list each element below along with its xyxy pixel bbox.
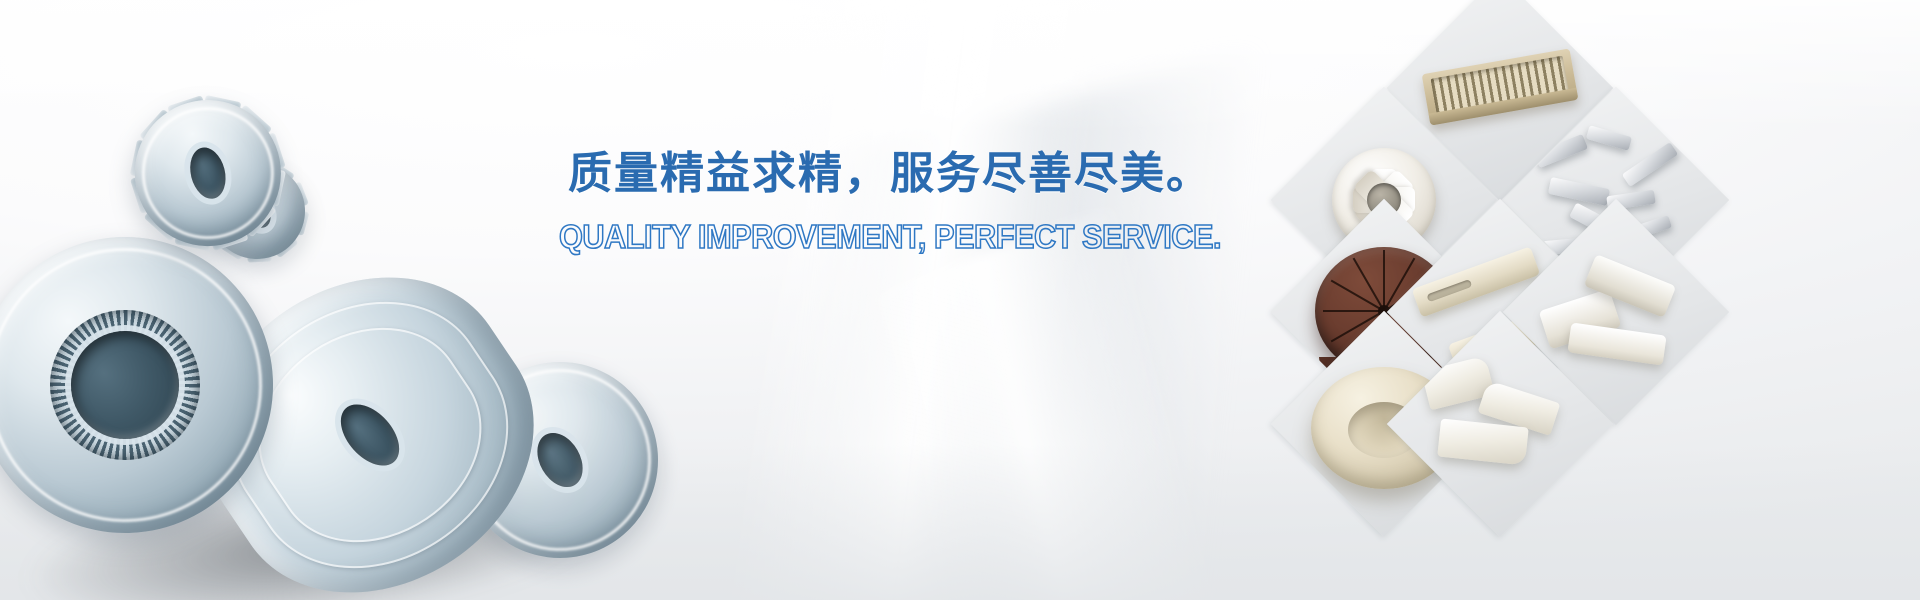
hero-banner: 质量精益求精，服务尽善尽美。 QUALITY IMPROVEMENT, PERF… (0, 0, 1920, 600)
banner-copy: 质量精益求精，服务尽善尽美。 QUALITY IMPROVEMENT, PERF… (530, 150, 1250, 255)
product-diamond-grid (1290, 0, 1810, 600)
gear-cluster-graphic (0, 40, 630, 600)
white-bracket-set-part (1539, 247, 1691, 377)
beige-grille-comb-part (1422, 48, 1579, 125)
banner-subheadline-english: QUALITY IMPROVEMENT, PERFECT SERVICE. (555, 220, 1225, 255)
small-spur-gear-icon (80, 45, 335, 300)
banner-headline-chinese: 质量精益求精，服务尽善尽美。 (530, 150, 1250, 198)
